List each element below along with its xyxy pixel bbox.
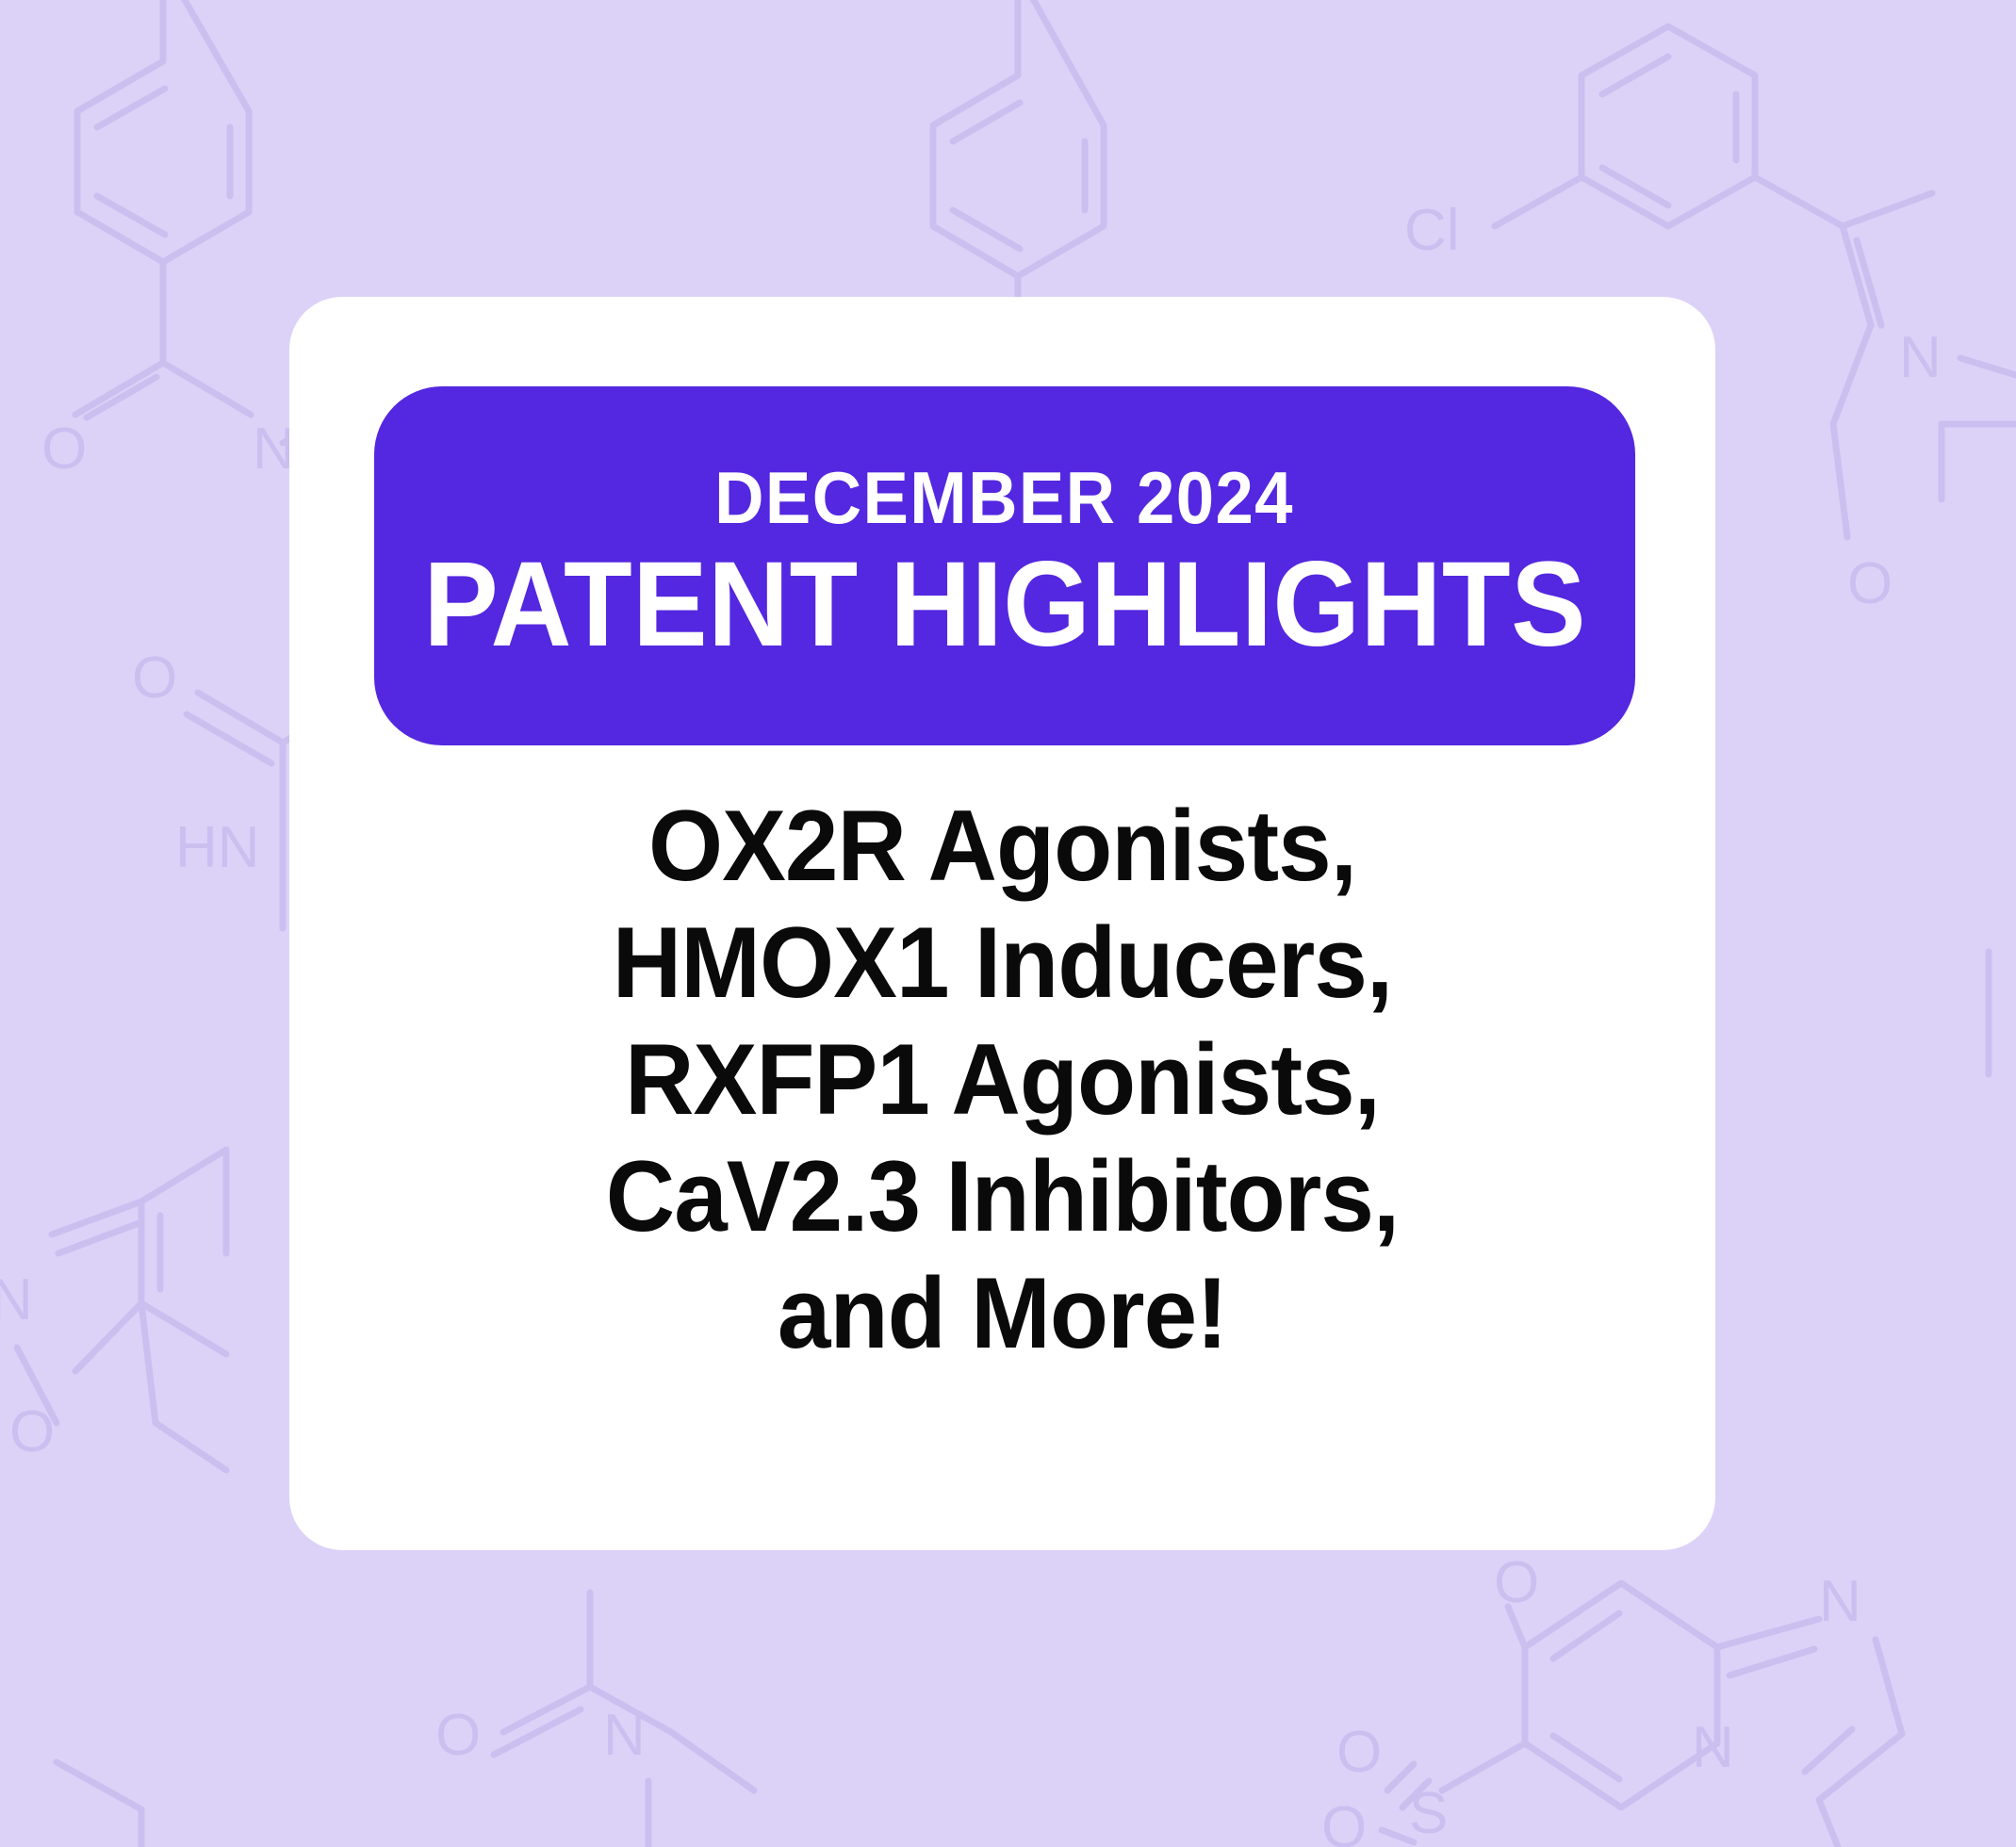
atom-label-O: O (1321, 1795, 1367, 1847)
headline-block: OX2R Agonists, HMOX1 Inducers, RXFP1 Ago… (289, 787, 1715, 1372)
headline-line-5: and More! (379, 1254, 1626, 1371)
atom-label-O: O (132, 646, 177, 711)
poster-canvas: O N O HN (0, 0, 2016, 1847)
atom-label-O: O (1336, 1720, 1382, 1785)
banner-title-label: PATENT HIGHLIGHTS (423, 540, 1586, 670)
atom-label-N: N (0, 1267, 33, 1332)
molecule-imidazopyridine-sulfonyl: N N S O O O (1321, 1550, 1902, 1847)
headline-line-2: HMOX1 Inducers, (379, 904, 1626, 1021)
atom-label-N: N (1819, 1569, 1861, 1634)
atom-label-O: O (41, 417, 87, 482)
atom-label-O: O (435, 1703, 481, 1768)
atom-label-Cl: Cl (1404, 198, 1460, 263)
atom-label-O: O (1847, 551, 1893, 616)
headline-line-3: RXFP1 Agonists, (379, 1021, 1626, 1137)
molecule-fragment-bottomleft (57, 1762, 141, 1847)
atom-label-HN: HN (175, 815, 260, 880)
atom-label-O: O (9, 1399, 55, 1464)
atom-label-N: N (1692, 1715, 1734, 1780)
banner-date-label: DECEMBER 2024 (715, 461, 1295, 534)
content-card: DECEMBER 2024 PATENT HIGHLIGHTS OX2R Ago… (289, 297, 1715, 1550)
atom-label-O: O (1494, 1550, 1539, 1615)
headline-line-1: OX2R Agonists, (379, 787, 1626, 904)
atom-label-N: N (1899, 325, 1942, 390)
molecule-isoxazole-left: N O (0, 1150, 226, 1470)
header-banner: DECEMBER 2024 PATENT HIGHLIGHTS (374, 386, 1635, 745)
headline-line-4: CaV2.3 Inhibitors, (379, 1137, 1626, 1254)
molecule-carbamate-bottom: O N (435, 1593, 754, 1847)
